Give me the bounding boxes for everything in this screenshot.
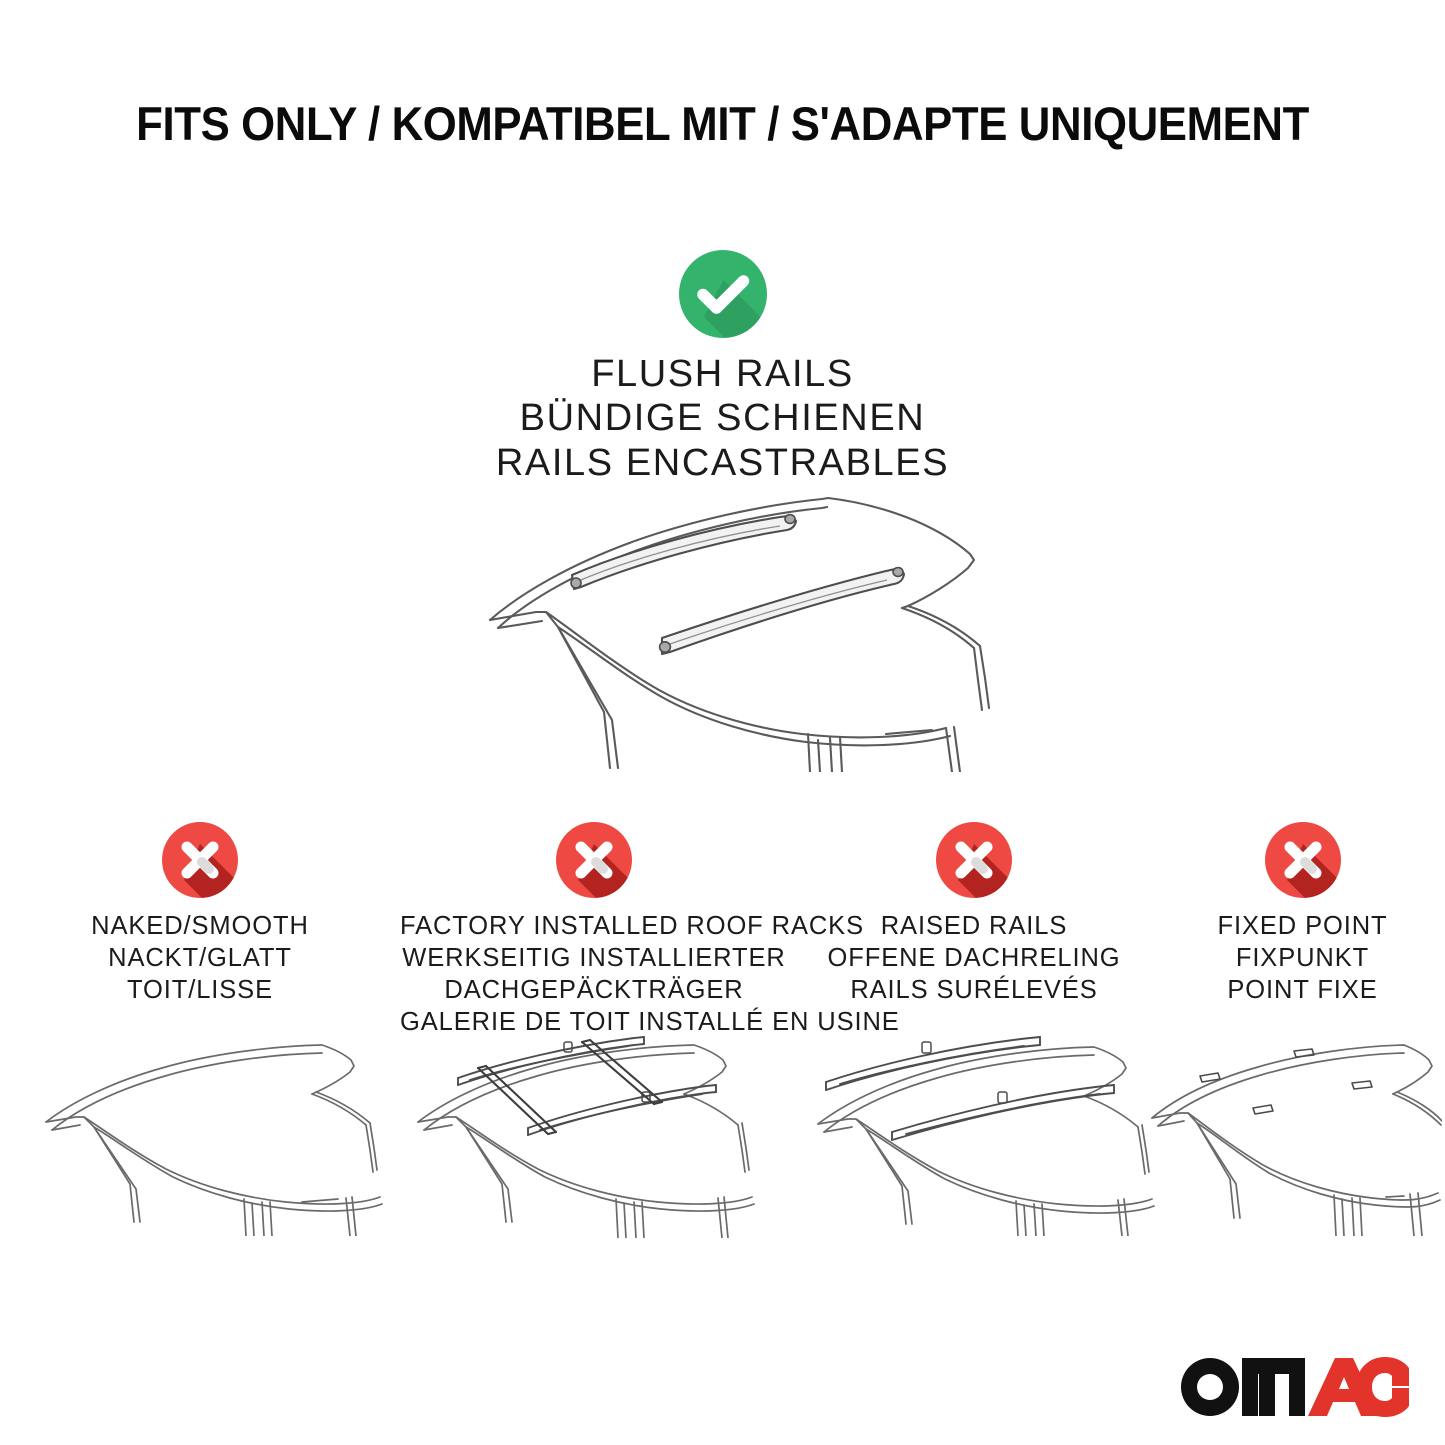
- compatible-labels: FLUSH RAILS BÜNDIGE SCHIENEN RAILS ENCAS…: [0, 352, 1445, 485]
- omac-logo-mark: [1177, 1351, 1409, 1423]
- label-en: RAISED RAILS: [788, 910, 1160, 942]
- label-de: FIXPUNKT: [1160, 942, 1445, 974]
- car-roof-factory-racks-illustration: [406, 1018, 756, 1238]
- car-roof-naked-smooth-illustration: [34, 1026, 384, 1236]
- compatible-label-en: FLUSH RAILS: [0, 352, 1445, 396]
- check-glyph: [679, 250, 767, 338]
- red-x-icon: [1265, 822, 1341, 898]
- column-labels: NAKED/SMOOTH NACKT/GLATT TOIT/LISSE: [0, 910, 400, 1006]
- label-fr: RAILS SURÉLEVÉS: [788, 974, 1160, 1006]
- omac-logo: [1177, 1351, 1409, 1423]
- raised-rails-drawing: [806, 1024, 1156, 1236]
- fixed-point-drawing: [1142, 1026, 1442, 1236]
- flush-rail-lower: [660, 568, 904, 654]
- x-glyph: [1265, 822, 1341, 898]
- naked-smooth-drawing: [34, 1026, 384, 1236]
- label-en: FACTORY INSTALLED ROOF RACKS: [400, 910, 788, 942]
- label-en: NAKED/SMOOTH: [0, 910, 400, 942]
- x-glyph: [162, 822, 238, 898]
- car-roof-raised-rails-illustration: [806, 1024, 1156, 1236]
- compatible-label-de: BÜNDIGE SCHIENEN: [0, 396, 1445, 440]
- label-fr: TOIT/LISSE: [0, 974, 400, 1006]
- label-de-1: WERKSEITIG INSTALLIERTER: [400, 942, 788, 974]
- green-check-icon: [679, 250, 767, 338]
- incompatible-illustrations: [0, 1008, 1445, 1238]
- flush-rails-drawing: [462, 472, 1022, 772]
- column-labels: FIXED POINT FIXPUNKT POINT FIXE: [1160, 910, 1445, 1006]
- page-title-text: FITS ONLY / KOMPATIBEL MIT / S'ADAPTE UN…: [136, 96, 1309, 151]
- red-x-icon: [162, 822, 238, 898]
- label-de: NACKT/GLATT: [0, 942, 400, 974]
- compatible-section: FLUSH RAILS BÜNDIGE SCHIENEN RAILS ENCAS…: [0, 250, 1445, 485]
- factory-racks-drawing: [406, 1018, 756, 1238]
- x-glyph: [936, 822, 1012, 898]
- car-roof-fixed-point-illustration: [1142, 1026, 1442, 1236]
- label-de: OFFENE DACHRELING: [788, 942, 1160, 974]
- red-x-icon: [936, 822, 1012, 898]
- page-title: FITS ONLY / KOMPATIBEL MIT / S'ADAPTE UN…: [0, 96, 1445, 151]
- car-roof-flush-rails-illustration: [462, 472, 1022, 772]
- label-en: FIXED POINT: [1160, 910, 1445, 942]
- x-glyph: [556, 822, 632, 898]
- label-fr: POINT FIXE: [1160, 974, 1445, 1006]
- red-x-icon: [556, 822, 632, 898]
- column-labels: RAISED RAILS OFFENE DACHRELING RAILS SUR…: [788, 910, 1160, 1006]
- label-de-2: DACHGEPÄCKTRÄGER: [400, 974, 788, 1006]
